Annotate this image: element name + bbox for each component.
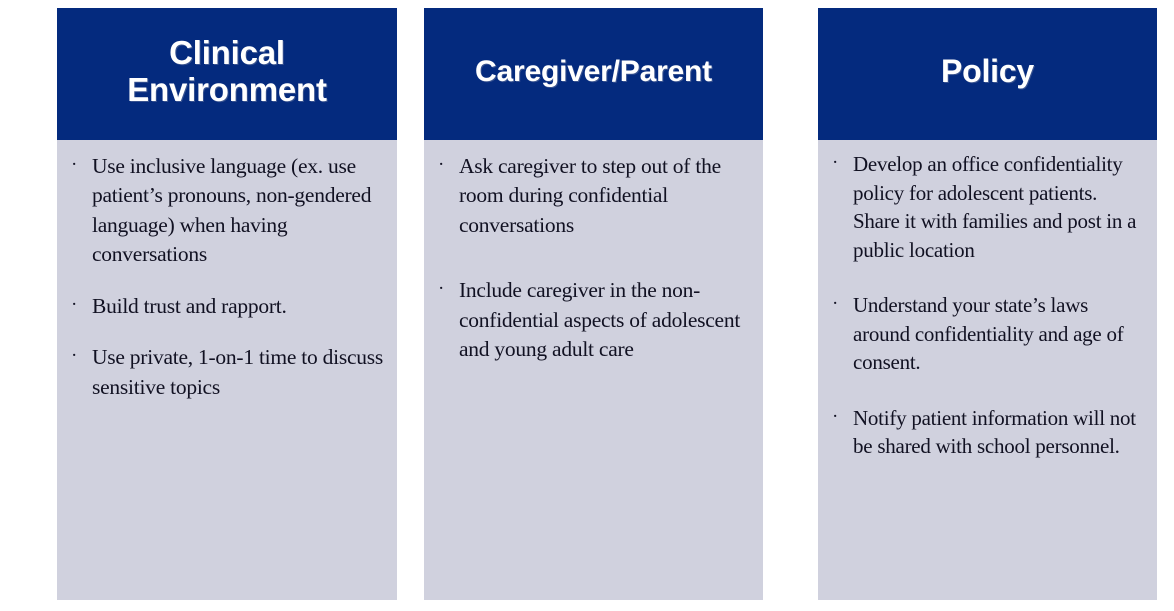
bullet-dot-icon: · [832, 404, 838, 430]
card-title-caregiver-parent: Caregiver/Parent [424, 8, 763, 140]
bullet-list-clinical-environment: · Use inclusive language (ex. use patien… [67, 152, 387, 402]
list-item: · Understand your state’s laws around co… [828, 291, 1147, 377]
list-item: · Notify patient information will not be… [828, 404, 1147, 461]
list-item: · Build trust and rapport. [67, 292, 387, 321]
list-item-text: Include caregiver in the non-confidentia… [459, 278, 740, 361]
three-column-diagram: Clinical Environment · Use inclusive lan… [0, 0, 1174, 611]
list-item: · Use inclusive language (ex. use patien… [67, 152, 387, 270]
card-policy: Policy · Develop an office confidentiali… [818, 8, 1157, 600]
list-item: · Use private, 1-on-1 time to discuss se… [67, 343, 387, 402]
bullet-dot-icon: · [438, 276, 444, 302]
bullet-dot-icon: · [71, 292, 77, 318]
card-caregiver-parent: Caregiver/Parent · Ask caregiver to step… [424, 8, 763, 600]
bullet-list-policy: · Develop an office confidentiality poli… [828, 150, 1147, 461]
list-item: · Include caregiver in the non-confident… [434, 276, 753, 364]
list-item: · Ask caregiver to step out of the room … [434, 152, 753, 240]
list-item: · Develop an office confidentiality poli… [828, 150, 1147, 264]
card-body-policy: · Develop an office confidentiality poli… [818, 140, 1157, 600]
list-item-text: Develop an office confidentiality policy… [853, 152, 1136, 262]
card-title-policy: Policy [818, 8, 1157, 140]
list-item-text: Understand your state’s laws around conf… [853, 293, 1123, 374]
list-item-text: Ask caregiver to step out of the room du… [459, 154, 721, 237]
card-clinical-environment: Clinical Environment · Use inclusive lan… [57, 8, 397, 600]
list-item-text: Notify patient information will not be s… [853, 406, 1136, 459]
bullet-dot-icon: · [832, 291, 838, 317]
card-title-clinical-environment: Clinical Environment [57, 8, 397, 140]
list-item-text: Use private, 1-on-1 time to discuss sens… [92, 345, 383, 398]
bullet-dot-icon: · [438, 152, 444, 178]
bullet-list-caregiver-parent: · Ask caregiver to step out of the room … [434, 152, 753, 365]
card-body-clinical-environment: · Use inclusive language (ex. use patien… [57, 140, 397, 600]
bullet-dot-icon: · [71, 343, 77, 369]
list-item-text: Use inclusive language (ex. use patient’… [92, 154, 371, 266]
bullet-dot-icon: · [832, 150, 838, 176]
list-item-text: Build trust and rapport. [92, 294, 287, 318]
card-body-caregiver-parent: · Ask caregiver to step out of the room … [424, 140, 763, 600]
bullet-dot-icon: · [71, 152, 77, 178]
